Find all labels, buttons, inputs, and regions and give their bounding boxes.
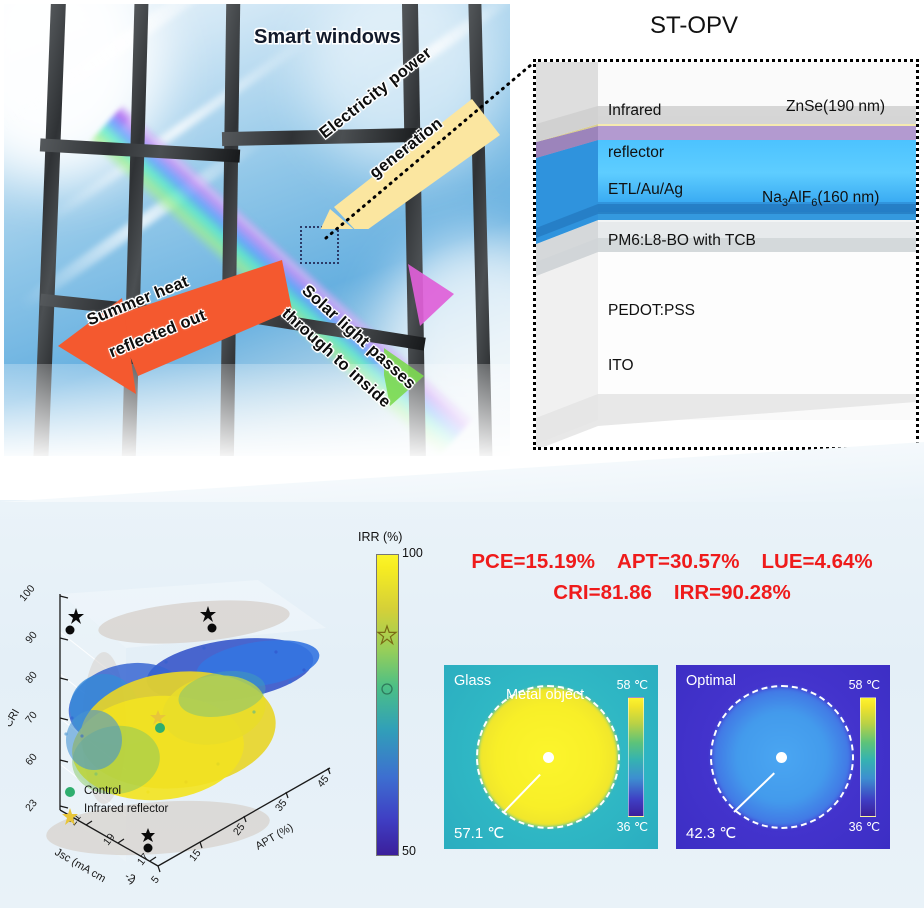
z-tick-80: 80 [23, 669, 40, 686]
device-stack-diagram: ZnSe(190 nm) Na3AlF6(160 nm) Infrared re… [533, 59, 919, 450]
scatter-3d-svg: 100 90 80 70 60 23 CRI 21 19 17 Jsc (mA … [8, 578, 348, 898]
colorbar-tick-max: 100 [402, 546, 423, 560]
thermal-colorbar-optimal [860, 697, 876, 817]
layer-label-na3alf6: Na3AlF6(160 nm) [762, 189, 879, 209]
thermal-colorbar-glass [628, 697, 644, 817]
colorbar-title: IRR (%) [358, 530, 402, 544]
metrics-row-1: PCE=15.19% APT=30.57% LUE=4.64% [424, 550, 920, 574]
thermal-object-label: Metal object [506, 687, 584, 703]
thermal-probe-point [776, 752, 787, 763]
z-tick-23: 23 [23, 797, 40, 814]
layer-label-pedot: PEDOT:PSS [608, 302, 695, 320]
scatter-3d-plot: 100 90 80 70 60 23 CRI 21 19 17 Jsc (mA … [8, 578, 348, 898]
z-tick-70: 70 [23, 709, 40, 726]
thermal-title-glass: Glass [454, 673, 491, 689]
solar-light-arrow [384, 264, 504, 414]
z-tick-90: 90 [23, 629, 40, 646]
layer-group-label-line2: reflector [608, 144, 664, 162]
metric-irr: IRR=90.28% [674, 581, 791, 605]
layer-group-label-line1: Infrared [608, 102, 661, 120]
device-layer-ir-reflector [536, 59, 916, 188]
top-section: Smart windows Electricity power generati… [0, 0, 924, 500]
metric-apt: APT=30.57% [617, 550, 740, 574]
thermal-cb-max-glass: 58 ℃ [617, 677, 648, 692]
legend-label-infrared-reflector: Infrared reflector [84, 803, 168, 815]
layer-label-znse: ZnSe(190 nm) [786, 98, 885, 116]
layer-label-etl-au-ag: ETL/Au/Ag [608, 181, 683, 199]
thermal-image-optimal: Optimal 42.3 ℃ 58 ℃ 36 ℃ [676, 665, 890, 849]
thermal-image-glass: Glass Metal object 57.1 ℃ 58 ℃ 36 ℃ [444, 665, 658, 849]
legend-label-control: Control [84, 785, 121, 797]
thermal-cb-min-optimal: 36 ℃ [849, 819, 880, 834]
metrics-row-2: CRI=81.86 IRR=90.28% [424, 581, 920, 605]
metrics-summary: PCE=15.19% APT=30.57% LUE=4.64% CRI=81.8… [424, 550, 920, 612]
layer-label-active: PM6:L8-BO with TCB [608, 232, 756, 250]
callout-leader-line [316, 60, 546, 250]
colorbar-markers [376, 554, 398, 854]
metric-cri: CRI=81.86 [553, 581, 652, 605]
device-diagram-title: ST-OPV [650, 12, 738, 40]
colorbar-tick-min: 50 [402, 844, 416, 858]
thermal-probe-point [543, 752, 554, 763]
thermal-spot-temp-optimal: 42.3 ℃ [686, 824, 736, 842]
thermal-cb-min-glass: 36 ℃ [617, 819, 648, 834]
page-title: Smart windows [254, 26, 401, 49]
z-axis-title: CRI [8, 707, 22, 729]
legend-marker-control [65, 787, 75, 797]
thermal-cb-max-optimal: 58 ℃ [849, 677, 880, 692]
x-tick-5: 5 [149, 874, 162, 886]
z-tick-100: 100 [17, 583, 38, 604]
layer-label-ito: ITO [608, 357, 634, 375]
metric-lue: LUE=4.64% [762, 550, 873, 574]
thermal-title-optimal: Optimal [686, 673, 736, 689]
metric-pce: PCE=15.19% [471, 550, 595, 574]
z-tick-60: 60 [23, 751, 40, 768]
thermal-spot-temp-glass: 57.1 ℃ [454, 824, 504, 842]
bottom-section: 100 90 80 70 60 23 CRI 21 19 17 Jsc (mA … [0, 500, 924, 908]
